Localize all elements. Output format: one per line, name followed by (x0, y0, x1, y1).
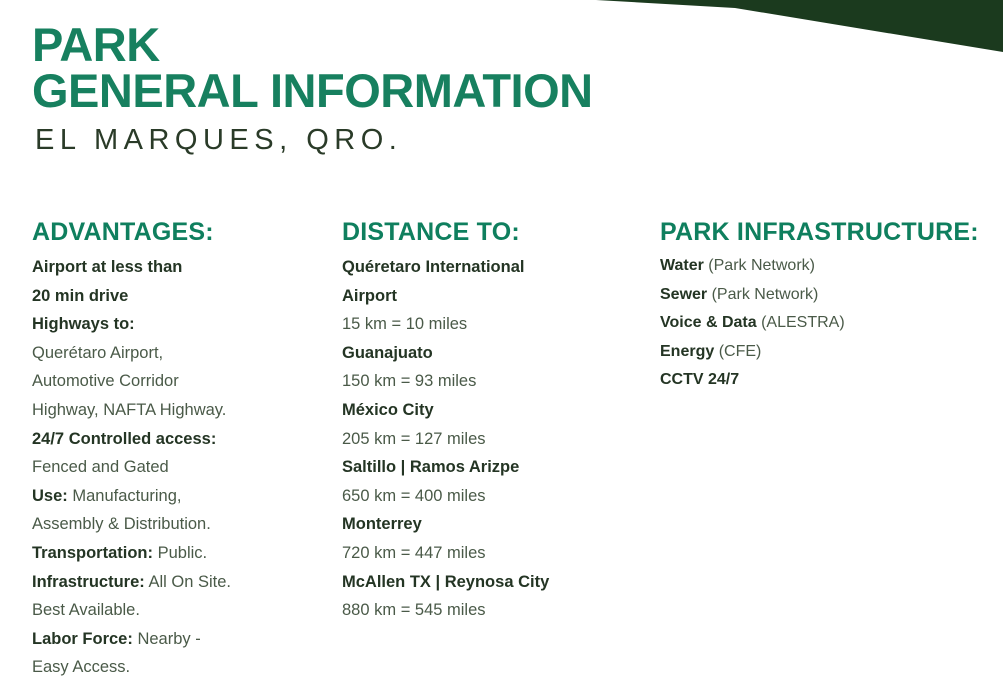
list-item: CCTV 24/7 (660, 366, 993, 395)
list-item: Highways to: (32, 310, 310, 339)
list-item-value: Assembly & Distribution. (32, 515, 211, 533)
list-item-value: (Park Network) (707, 286, 818, 303)
list-item-value: 15 km = 10 miles (342, 315, 467, 333)
list-item-label: Airport at less than (32, 258, 182, 276)
list-item-value: Best Available. (32, 601, 140, 619)
list-item-label: Voice & Data (660, 314, 757, 331)
list-item: Best Available. (32, 596, 310, 625)
list-item-value: 880 km = 545 miles (342, 601, 486, 619)
page-subtitle-location: EL MARQUES, QRO. (35, 124, 932, 157)
list-item-label: Use: (32, 487, 68, 505)
list-item-value: (Park Network) (704, 257, 815, 274)
list-item-label: 24/7 Controlled access: (32, 430, 216, 448)
list-item: Airport at less than (32, 253, 310, 282)
list-item-value: 150 km = 93 miles (342, 372, 476, 390)
column-distance-to: DISTANCE TO: Quéretaro InternationalAirp… (320, 218, 650, 625)
page-header: PARK GENERAL INFORMATION EL MARQUES, QRO… (32, 22, 932, 157)
list-item: 150 km = 93 miles (342, 367, 640, 396)
list-item: Transportation: Public. (32, 539, 310, 568)
list-item-value: 720 km = 447 miles (342, 544, 486, 562)
list-item: Guanajuato (342, 339, 640, 368)
advantages-list: Airport at less than20 min driveHighways… (32, 253, 310, 682)
list-item: Water (Park Network) (660, 252, 993, 281)
list-item: 15 km = 10 miles (342, 310, 640, 339)
list-item: Easy Access. (32, 653, 310, 682)
distance-list: Quéretaro InternationalAirport15 km = 10… (342, 253, 640, 625)
list-item-value: Public. (153, 544, 207, 562)
page-title-line-2: GENERAL INFORMATION (32, 68, 932, 114)
list-item-value: Easy Access. (32, 658, 130, 676)
list-item-label: Sewer (660, 286, 707, 303)
list-item: Automotive Corridor (32, 367, 310, 396)
list-item: 20 min drive (32, 282, 310, 311)
list-item: 880 km = 545 miles (342, 596, 640, 625)
list-item-label: Monterrey (342, 515, 422, 533)
list-item: Sewer (Park Network) (660, 281, 993, 310)
list-item-label: Infrastructure: (32, 573, 145, 591)
column-advantages: ADVANTAGES: Airport at less than20 min d… (0, 218, 320, 682)
list-item-value: (CFE) (714, 343, 761, 360)
list-item-label: Guanajuato (342, 344, 433, 362)
infrastructure-list: Water (Park Network)Sewer (Park Network)… (660, 252, 993, 395)
list-item-label: Water (660, 257, 704, 274)
list-item: 720 km = 447 miles (342, 539, 640, 568)
list-item: Airport (342, 282, 640, 311)
list-item: México City (342, 396, 640, 425)
list-item-label: Transportation: (32, 544, 153, 562)
list-item-label: Labor Force: (32, 630, 133, 648)
list-item-label: McAllen TX | Reynosa City (342, 573, 549, 591)
list-item: Voice & Data (ALESTRA) (660, 309, 993, 338)
column-heading-park-infrastructure: PARK INFRASTRUCTURE: (660, 218, 993, 246)
list-item-label: Quéretaro International (342, 258, 524, 276)
list-item-value: Manufacturing, (68, 487, 182, 505)
list-item-label: Saltillo | Ramos Arizpe (342, 458, 519, 476)
list-item: 24/7 Controlled access: (32, 425, 310, 454)
list-item-value: (ALESTRA) (757, 314, 845, 331)
list-item: Labor Force: Nearby - (32, 625, 310, 654)
list-item: Infrastructure: All On Site. (32, 568, 310, 597)
list-item-label: México City (342, 401, 434, 419)
list-item-value: Automotive Corridor (32, 372, 179, 390)
list-item-value: Fenced and Gated (32, 458, 169, 476)
list-item-value: Querétaro Airport, (32, 344, 163, 362)
column-park-infrastructure: PARK INFRASTRUCTURE: Water (Park Network… (650, 218, 1003, 395)
list-item: Quéretaro International (342, 253, 640, 282)
list-item-value: 205 km = 127 miles (342, 430, 486, 448)
list-item: Querétaro Airport, (32, 339, 310, 368)
list-item-label: CCTV 24/7 (660, 371, 739, 388)
list-item-label: 20 min drive (32, 287, 128, 305)
list-item: Assembly & Distribution. (32, 510, 310, 539)
column-heading-advantages: ADVANTAGES: (32, 218, 310, 246)
list-item: Highway, NAFTA Highway. (32, 396, 310, 425)
list-item: Saltillo | Ramos Arizpe (342, 453, 640, 482)
info-columns: ADVANTAGES: Airport at less than20 min d… (0, 218, 1003, 690)
list-item-value: Nearby - (133, 630, 201, 648)
list-item: 650 km = 400 miles (342, 482, 640, 511)
column-heading-distance-to: DISTANCE TO: (342, 218, 640, 246)
list-item-value: Highway, NAFTA Highway. (32, 401, 226, 419)
list-item-label: Energy (660, 343, 714, 360)
list-item: Energy (CFE) (660, 338, 993, 367)
list-item: Use: Manufacturing, (32, 482, 310, 511)
list-item-label: Airport (342, 287, 397, 305)
list-item-value: All On Site. (145, 573, 231, 591)
list-item: Monterrey (342, 510, 640, 539)
list-item: 205 km = 127 miles (342, 425, 640, 454)
page-title-line-1: PARK (32, 22, 932, 68)
list-item: Fenced and Gated (32, 453, 310, 482)
list-item: McAllen TX | Reynosa City (342, 568, 640, 597)
list-item-value: 650 km = 400 miles (342, 487, 486, 505)
list-item-label: Highways to: (32, 315, 135, 333)
